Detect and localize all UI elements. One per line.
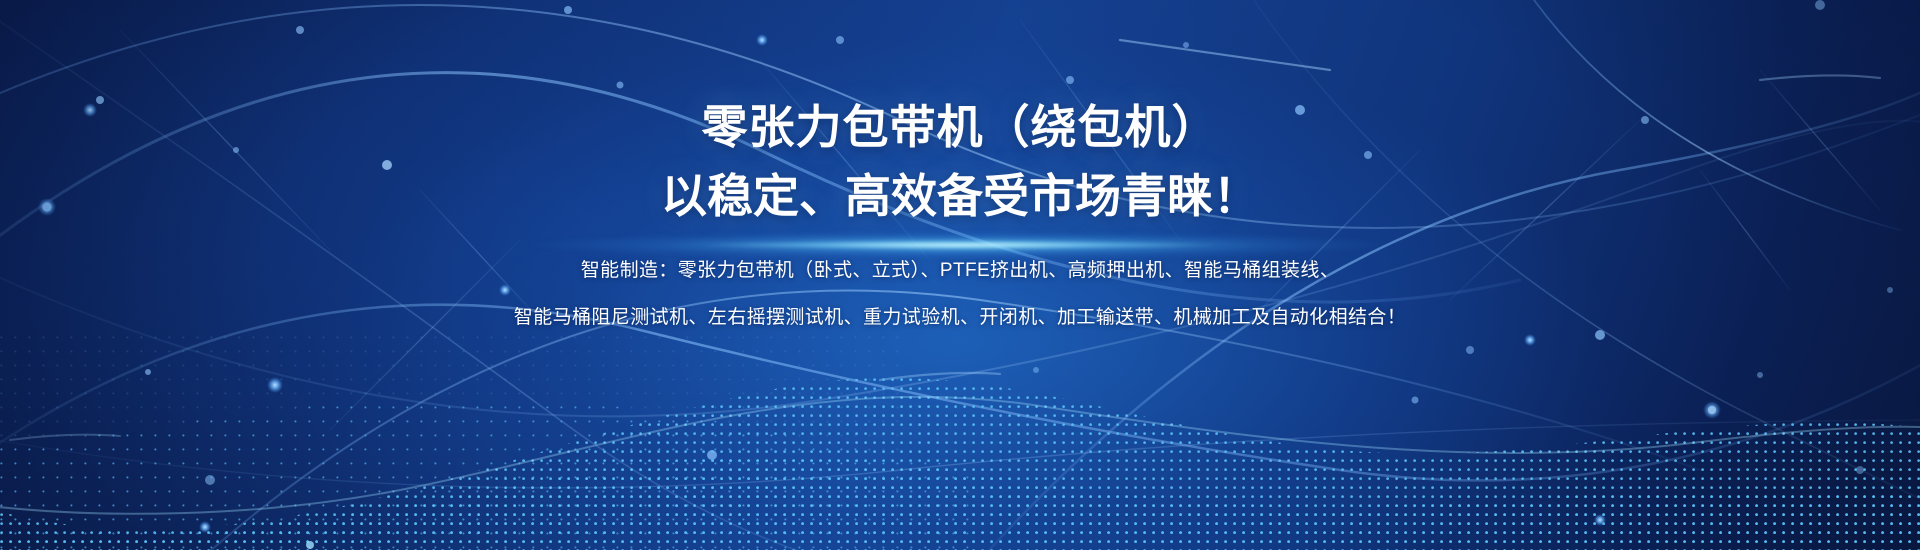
banner-content: 零张力包带机（绕包机） 以稳定、高效备受市场青睐！ 智能制造：零张力包带机（卧式… xyxy=(0,0,1920,550)
subtitle-line-2: 智能马桶阻尼测试机、左右摇摆测试机、重力试验机、开闭机、加工输送带、机械加工及自… xyxy=(514,308,1406,327)
subtitle-line-1: 智能制造：零张力包带机（卧式、立式）、PTFE挤出机、高频押出机、智能马桶组装线… xyxy=(581,261,1339,280)
hero-banner: 零张力包带机（绕包机） 以稳定、高效备受市场青睐！ 智能制造：零张力包带机（卧式… xyxy=(0,0,1920,550)
headline-line-1: 零张力包带机（绕包机） xyxy=(702,104,1219,150)
headline-line-2: 以稳定、高效备受市场青睐！ xyxy=(661,173,1259,219)
